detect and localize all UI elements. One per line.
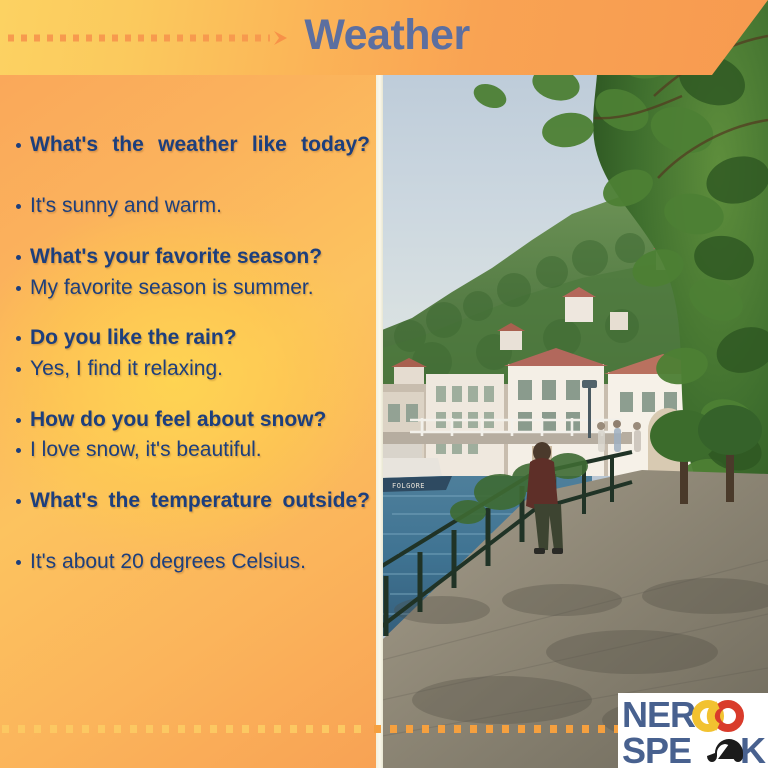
qa-block: What's your favorite season? My favorite…: [8, 242, 370, 303]
qa-block: What's the temperature outside? It's abo…: [8, 486, 370, 578]
photo-panel: FOLGORE: [382, 0, 768, 768]
qa-block: What's the weather like today? It's sunn…: [8, 130, 370, 222]
answer-text: It's about 20 degrees Celsius.: [8, 547, 370, 578]
panel-divider: [376, 75, 383, 768]
question-text: What's the temperature outside?: [8, 486, 370, 547]
answer-text: Yes, I find it relaxing.: [8, 354, 370, 385]
answer-text: I love snow, it's beautiful.: [8, 435, 370, 466]
qa-block: How do you feel about snow? I love snow,…: [8, 405, 370, 466]
question-text: How do you feel about snow?: [8, 405, 370, 436]
answer-text: It's sunny and warm.: [8, 191, 370, 222]
question-text: What's your favorite season?: [8, 242, 370, 273]
answer-text: My favorite season is summer.: [8, 273, 370, 304]
interlocking-rings-icon: [696, 704, 740, 728]
headphones-icon: [707, 739, 743, 762]
logo-text-spe: SPE: [622, 730, 691, 768]
svg-text:FOLGORE: FOLGORE: [392, 482, 425, 490]
dashed-arrow-right-icon: [6, 30, 306, 46]
logo-text-k: K: [740, 730, 766, 768]
dashed-arrow-right-icon: [0, 718, 700, 740]
poster-canvas: FOLGORE: [0, 0, 768, 768]
logo-text-nero: NER: [622, 694, 696, 735]
question-text: What's the weather like today?: [8, 130, 370, 191]
qa-list: What's the weather like today? It's sunn…: [8, 130, 370, 578]
content-panel: What's the weather like today? It's sunn…: [0, 75, 379, 768]
lakeside-photo: FOLGORE: [382, 0, 768, 768]
brand-logo[interactable]: NER SPE K: [618, 693, 768, 768]
question-text: Do you like the rain?: [8, 323, 370, 354]
qa-block: Do you like the rain? Yes, I find it rel…: [8, 323, 370, 384]
